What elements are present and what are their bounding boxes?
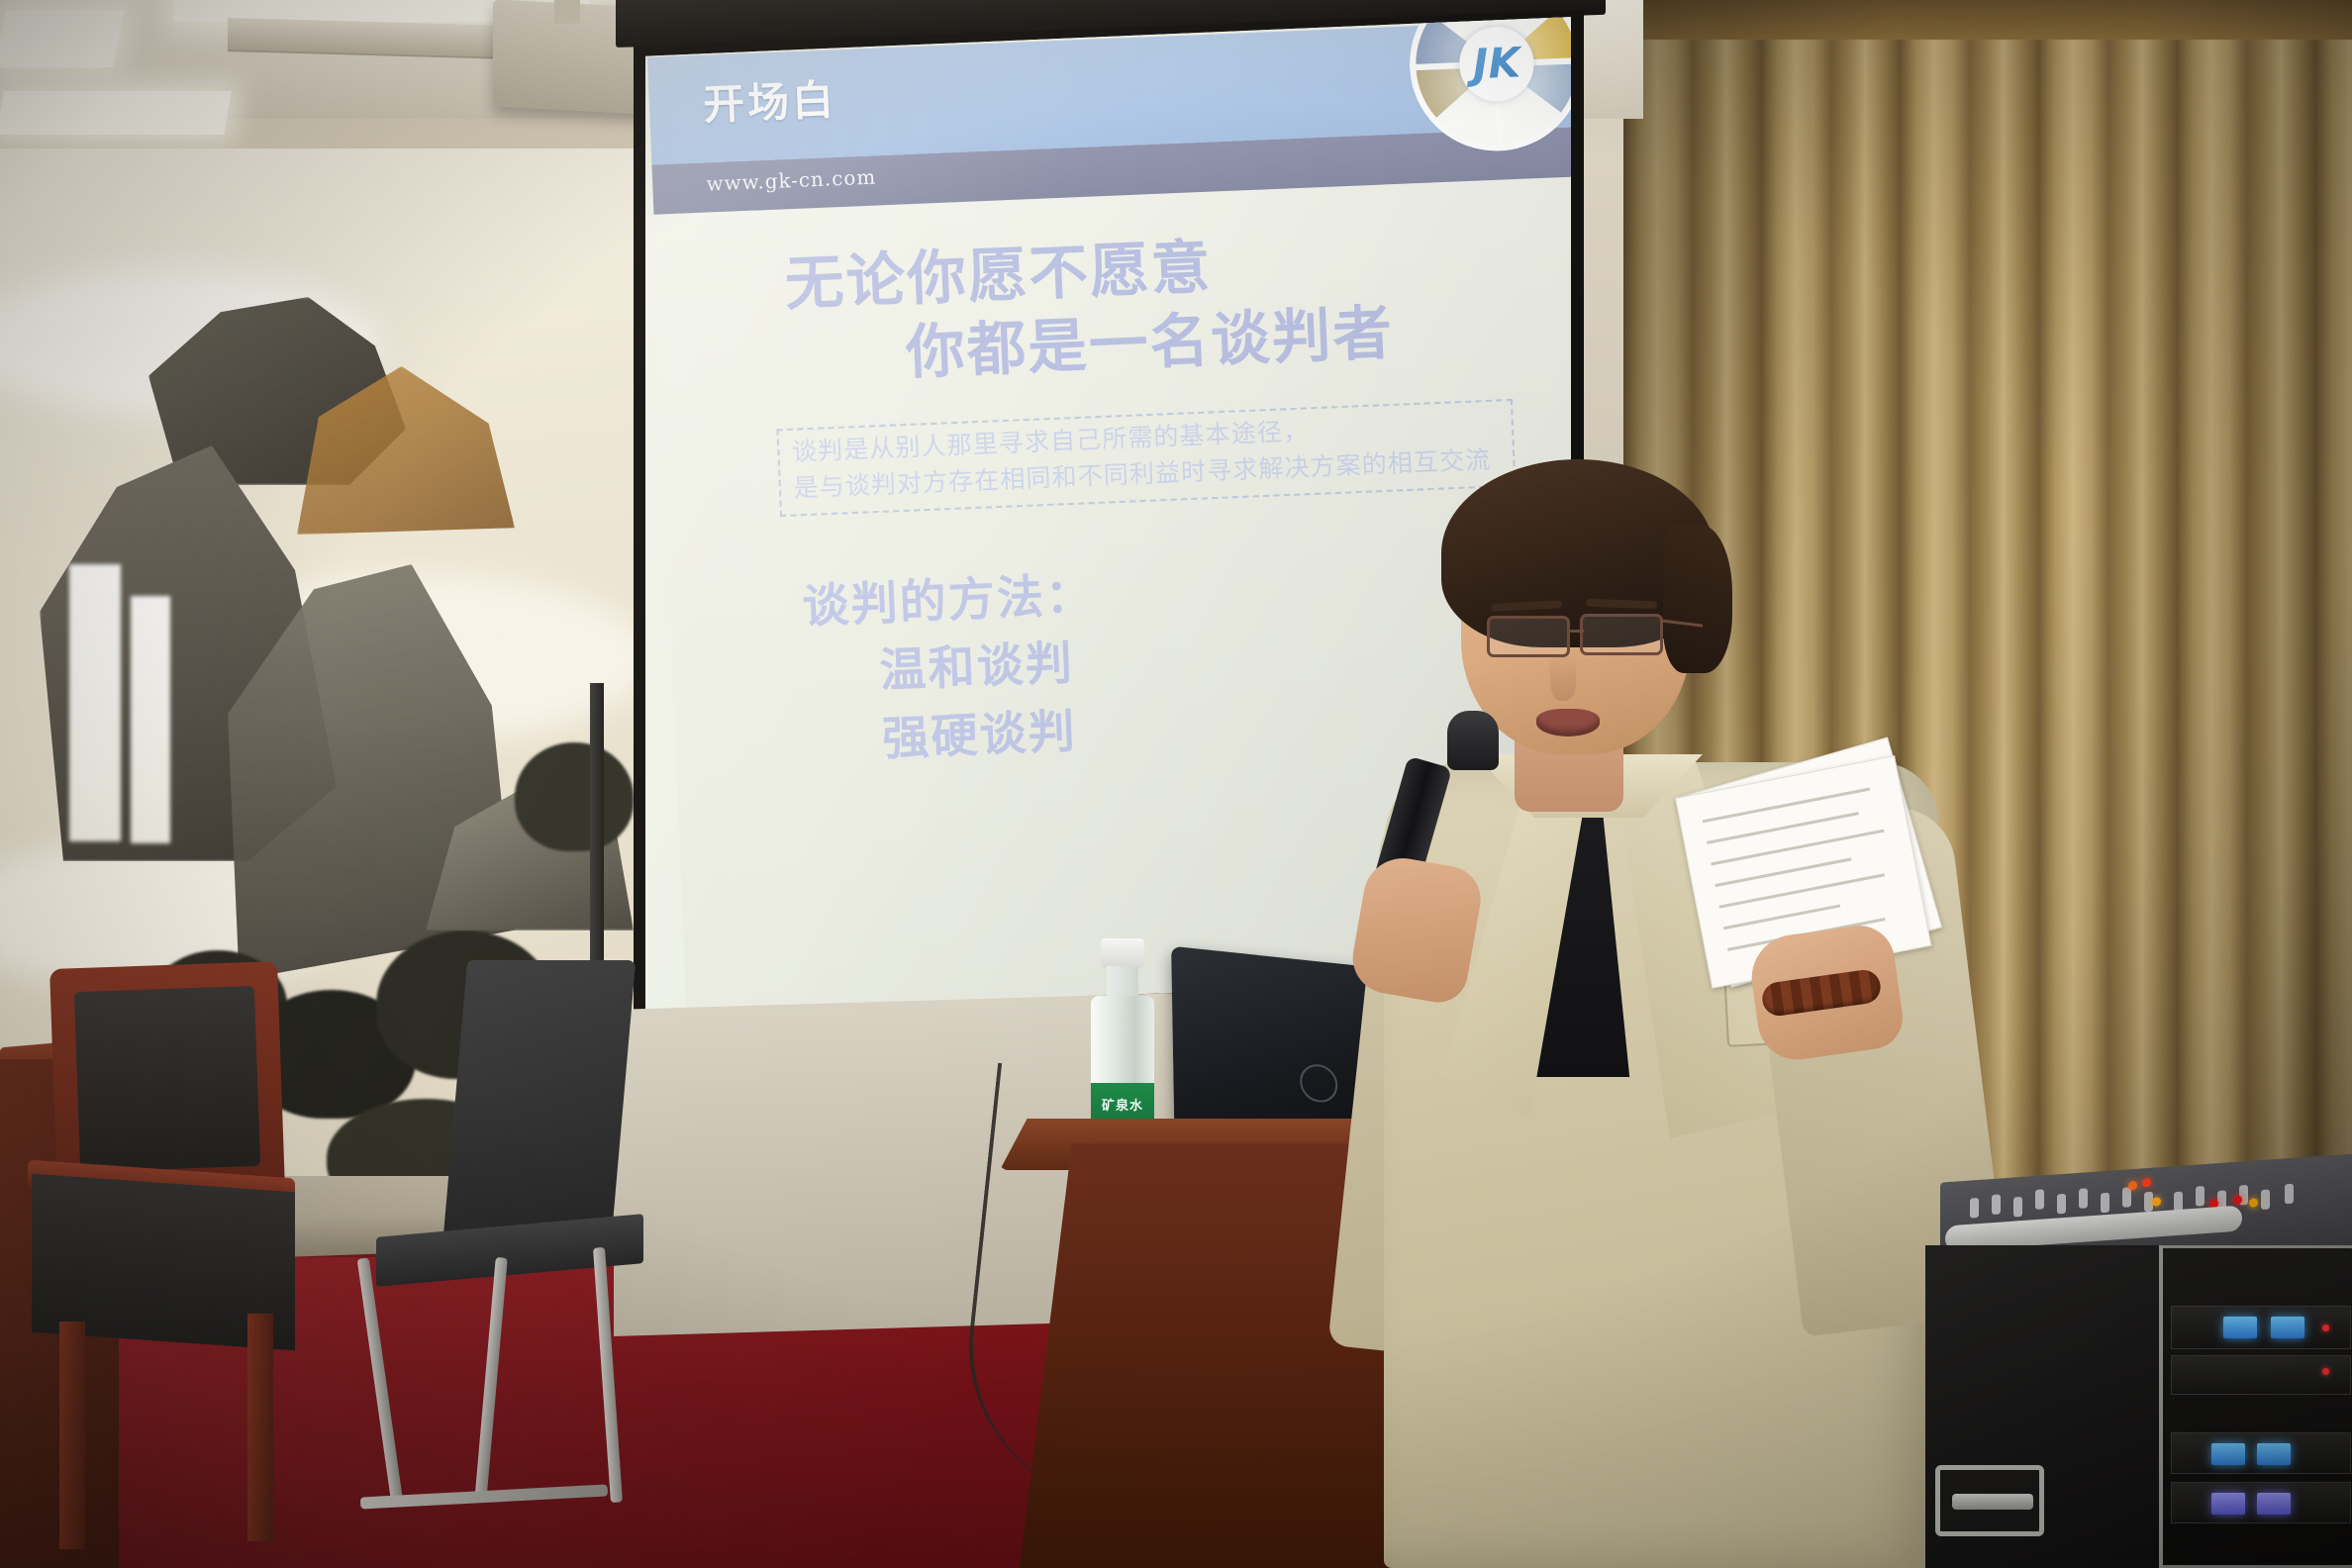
eyeglasses-right-lens <box>1580 614 1663 655</box>
folding-chair-back <box>443 960 636 1237</box>
ceiling-light-panel <box>0 10 125 67</box>
chair-back-cushion <box>74 986 260 1172</box>
rack-unit-display <box>2257 1443 2291 1465</box>
rack-unit-display <box>2223 1317 2257 1338</box>
rack-unit-led <box>2322 1368 2329 1375</box>
rack-unit-display <box>2211 1443 2245 1465</box>
rack-case-handle[interactable] <box>1935 1465 2044 1536</box>
speaker-hair-side <box>1663 525 1732 673</box>
rack-unit-led <box>2322 1324 2329 1331</box>
bottle-label-text: 矿泉水 <box>1091 1095 1154 1114</box>
folding-chair-leg <box>593 1247 623 1503</box>
chair-leg <box>247 1314 273 1541</box>
speaker-hand-holding-microphone <box>1347 852 1486 1007</box>
slide-title: 开场白 <box>702 66 837 132</box>
folding-chair <box>366 960 663 1515</box>
rack-case-handle-bar <box>1952 1494 2033 1510</box>
mixer-led <box>2152 1197 2161 1207</box>
speaker: BRT <box>1366 465 2000 1568</box>
bottle-cap <box>1101 938 1144 968</box>
rack-unit[interactable] <box>2171 1355 2351 1395</box>
ceiling-light-panel <box>0 91 232 135</box>
rack-unit[interactable] <box>2171 1482 2351 1523</box>
mixer-led <box>2249 1198 2258 1208</box>
logo-center-disc: JK <box>1458 26 1535 103</box>
microphone-head <box>1447 711 1499 770</box>
bottle-neck <box>1107 966 1138 1000</box>
eyeglasses-bridge <box>1568 630 1584 633</box>
rack-unit-display <box>2211 1493 2245 1515</box>
mixer-led <box>2142 1178 2151 1188</box>
speaker-nose <box>1550 653 1576 701</box>
rack-unit[interactable] <box>2171 1432 2351 1474</box>
projector-mount <box>554 0 580 24</box>
wooden-armchair <box>12 965 299 1568</box>
slide-headline: 无论你愿不愿意 你都是一名谈判者 <box>655 214 1571 400</box>
presentation-photo-scene: 开场白 www.gk-cn.com JK <box>0 0 2352 1568</box>
logo-monogram: JK <box>1458 26 1535 103</box>
rack-unit-display <box>2257 1493 2291 1515</box>
eyeglasses-left-lens <box>1487 616 1570 657</box>
dell-circle-logo-icon <box>1300 1062 1338 1104</box>
speaker-mouth <box>1536 709 1600 736</box>
slide-logo: JK <box>1413 10 1571 147</box>
chair-leg <box>59 1322 85 1549</box>
rack-unit-display <box>2271 1317 2304 1338</box>
logo-disc: JK <box>1413 10 1571 147</box>
mixer-led <box>2128 1181 2137 1191</box>
rack-unit[interactable] <box>2171 1306 2351 1349</box>
folding-chair-leg <box>474 1257 508 1503</box>
